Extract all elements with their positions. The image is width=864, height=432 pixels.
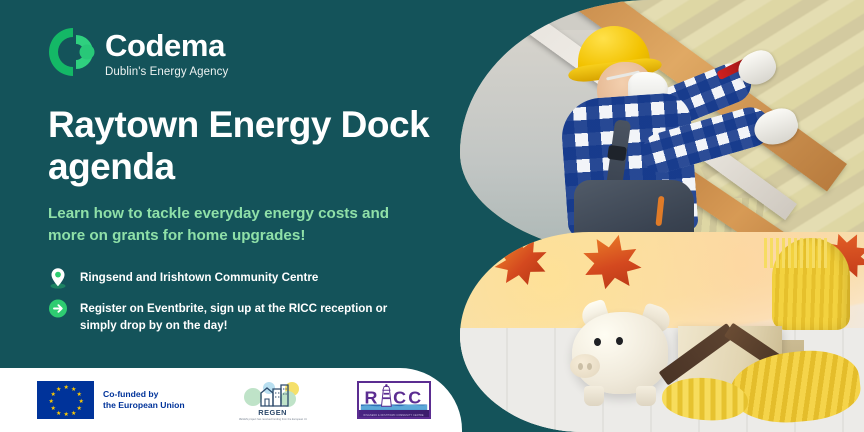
svg-text:C: C xyxy=(393,388,406,408)
piggy-bank-nostril xyxy=(578,363,583,370)
svg-text:R: R xyxy=(364,388,377,408)
piggy-bank-nostril xyxy=(587,363,592,370)
piggy-bank-snout xyxy=(570,354,600,378)
list-item: Ringsend and Irishtown Community Centre xyxy=(48,268,388,289)
ricc-name-strip: RINGSEND & IRISHTOWN COMMUNITY CENTRE xyxy=(359,410,429,417)
info-list: Ringsend and Irishtown Community Centre … xyxy=(48,268,388,334)
subheading: Learn how to tackle everyday energy cost… xyxy=(48,203,393,247)
eu-funding-logo: ★ ★ ★ ★ ★ ★ ★ ★ ★ ★ ★ ★ Co-funded by the… xyxy=(37,381,185,419)
piggy-bank-body xyxy=(572,312,668,394)
regen-logo: REGEN REGEN project has received funding… xyxy=(239,379,307,422)
page-title: Raytown Energy Dock agenda xyxy=(48,104,448,188)
list-item: Register on Eventbrite, sign up at the R… xyxy=(48,299,388,334)
list-item-label: Ringsend and Irishtown Community Centre xyxy=(80,268,318,286)
regen-fine-print: REGEN project has received funding from … xyxy=(239,418,307,422)
piggy-bank-leg xyxy=(584,386,604,406)
codema-c-mark-icon xyxy=(49,26,95,78)
list-item-label: Register on Eventbrite, sign up at the R… xyxy=(80,299,388,334)
eu-funding-caption: Co-funded by the European Union xyxy=(103,389,185,412)
ricc-logo: R C C RINGSEND & IRISHTOWN COMMUNITY CEN… xyxy=(357,381,431,419)
photo-column xyxy=(460,0,864,432)
eu-flag-icon: ★ ★ ★ ★ ★ ★ ★ ★ ★ ★ ★ ★ xyxy=(37,381,94,419)
map-pin-icon xyxy=(48,267,68,289)
codema-logo: Codema Dublin's Energy Agency xyxy=(49,26,228,78)
eu-caption-line-2: the European Union xyxy=(103,400,185,411)
yellow-scarf-top xyxy=(772,238,850,330)
ricc-strip-label: RINGSEND & IRISHTOWN COMMUNITY CENTRE xyxy=(359,415,429,417)
piggy-bank-leg xyxy=(636,386,656,406)
regen-name: REGEN xyxy=(239,408,307,417)
piggy-bank-eye xyxy=(594,338,601,346)
content-area: Codema Dublin's Energy Agency Raytown En… xyxy=(0,0,470,432)
svg-text:C: C xyxy=(408,388,421,408)
eu-caption-line-1: Co-funded by xyxy=(103,389,185,400)
piggy-bank-eye xyxy=(616,337,623,345)
arrow-right-circle-icon xyxy=(48,298,68,320)
footer-logo-bar: ★ ★ ★ ★ ★ ★ ★ ★ ★ ★ ★ ★ Co-funded by the… xyxy=(0,368,462,432)
attic-insulation-worker-photo xyxy=(460,0,864,258)
poster-canvas: Codema Dublin's Energy Agency Raytown En… xyxy=(0,0,864,432)
worker-overall-clip xyxy=(607,145,627,161)
scarf-fringe xyxy=(764,238,830,268)
brand-name: Codema xyxy=(105,30,228,61)
regen-buildings-icon xyxy=(239,379,307,409)
brand-tagline: Dublin's Energy Agency xyxy=(105,66,228,78)
piggy-bank-house-scarf-photo xyxy=(460,232,864,432)
